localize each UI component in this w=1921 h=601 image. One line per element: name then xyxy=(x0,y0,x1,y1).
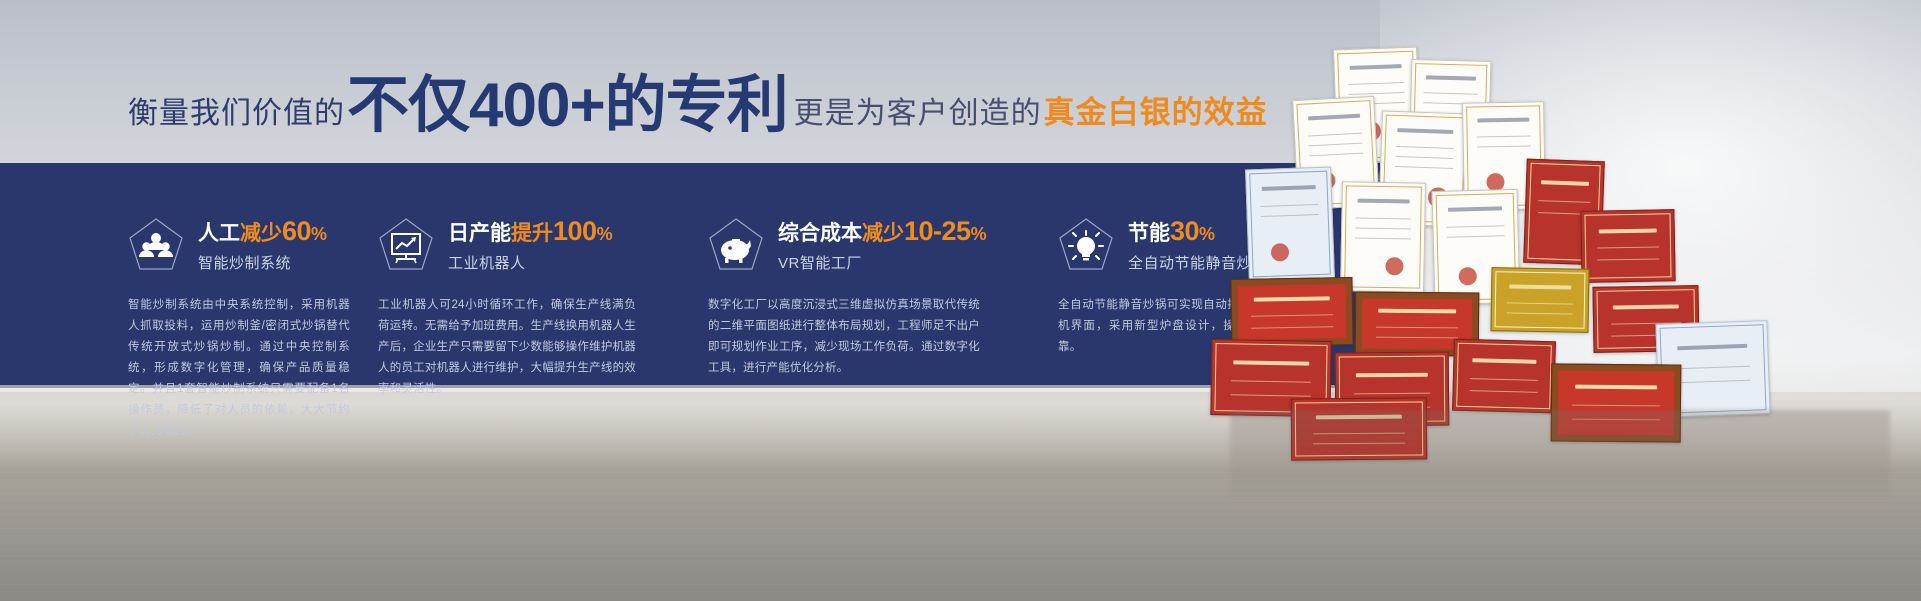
plaque-item xyxy=(1452,339,1556,414)
feature-title-prefix: 节能 xyxy=(1128,222,1170,245)
feature-body-text: 数字化工厂以高度沉浸式三维虚拟仿真场景取代传统的二维平面图纸进行整体布局规划，工… xyxy=(708,295,980,379)
feature-titles: 综合成本减少10-25% VR智能工厂 xyxy=(778,215,987,273)
feature-body-text: 工业机器人可24小时循环工作，确保生产线满负荷运转。无需给予加班费用。生产线换用… xyxy=(378,295,636,400)
feature-unit: % xyxy=(971,224,987,244)
feature-unit: % xyxy=(597,224,613,244)
feature-item-capacity: 日产能提升100% 工业机器人 工业机器人可24小时循环工作，确保生产线满负荷运… xyxy=(360,163,690,385)
chart-board-icon xyxy=(378,217,434,273)
feature-title-prefix: 日产能 xyxy=(448,222,511,245)
lightbulb-icon xyxy=(1058,217,1114,273)
feature-subtitle: 工业机器人 xyxy=(448,252,613,273)
certificate-item xyxy=(1340,181,1426,292)
feature-titles: 人工减少60% 智能炒制系统 xyxy=(198,215,327,273)
piggy-bank-icon xyxy=(708,217,764,273)
feature-title-accent: 减少 xyxy=(862,222,904,245)
feature-header: 人工减少60% 智能炒制系统 xyxy=(128,215,334,273)
feature-subtitle: 智能炒制系统 xyxy=(198,252,327,273)
feature-title-prefix: 综合成本 xyxy=(778,222,862,245)
feature-header: 综合成本减少10-25% VR智能工厂 xyxy=(708,215,1014,273)
feature-titles: 日产能提升100% 工业机器人 xyxy=(448,215,613,273)
feature-title-accent: 减少 xyxy=(240,222,282,245)
feature-title-accent: 提升 xyxy=(511,222,553,245)
certificate-item xyxy=(1580,209,1675,283)
certificate-item xyxy=(1245,167,1335,282)
feature-item-labor: 人工减少60% 智能炒制系统 智能炒制系统由中央系统控制，采用机器人抓取投料，运… xyxy=(0,163,360,385)
feature-number: 60 xyxy=(282,216,311,246)
feature-number: 10-25 xyxy=(904,216,971,246)
headline: 衡量我们价值的 不仅400+的专利 更是为客户创造的 真金白银的效益 xyxy=(128,72,1358,140)
feature-body-text: 智能炒制系统由中央系统控制，采用机器人抓取投料，运用炒制釜/密闭式炒锅替代传统开… xyxy=(128,295,350,441)
headline-emphasis: 不仅400+的专利 xyxy=(347,75,788,137)
team-people-icon xyxy=(128,217,184,273)
feature-subtitle: VR智能工厂 xyxy=(778,252,987,273)
feature-title: 综合成本减少10-25% xyxy=(778,217,987,245)
feature-item-cost: 综合成本减少10-25% VR智能工厂 数字化工厂以高度沉浸式三维虚拟仿真场景取… xyxy=(690,163,1040,385)
feature-list: 人工减少60% 智能炒制系统 智能炒制系统由中央系统控制，采用机器人抓取投料，运… xyxy=(0,163,1400,385)
headline-mid: 更是为客户创造的 xyxy=(794,88,1042,132)
feature-title-prefix: 人工 xyxy=(198,222,240,245)
plaque-item xyxy=(1230,277,1353,347)
feature-unit: % xyxy=(311,224,327,244)
feature-title: 人工减少60% xyxy=(198,217,327,245)
certificate-reflection xyxy=(1230,410,1890,505)
feature-title: 日产能提升100% xyxy=(448,217,613,245)
feature-header: 日产能提升100% 工业机器人 xyxy=(378,215,664,273)
headline-lead: 衡量我们价值的 xyxy=(128,88,345,132)
certificate-item xyxy=(1490,267,1589,333)
feature-number: 100 xyxy=(553,216,597,246)
promo-banner: 衡量我们价值的 不仅400+的专利 更是为客户创造的 真金白银的效益 xyxy=(0,0,1921,601)
